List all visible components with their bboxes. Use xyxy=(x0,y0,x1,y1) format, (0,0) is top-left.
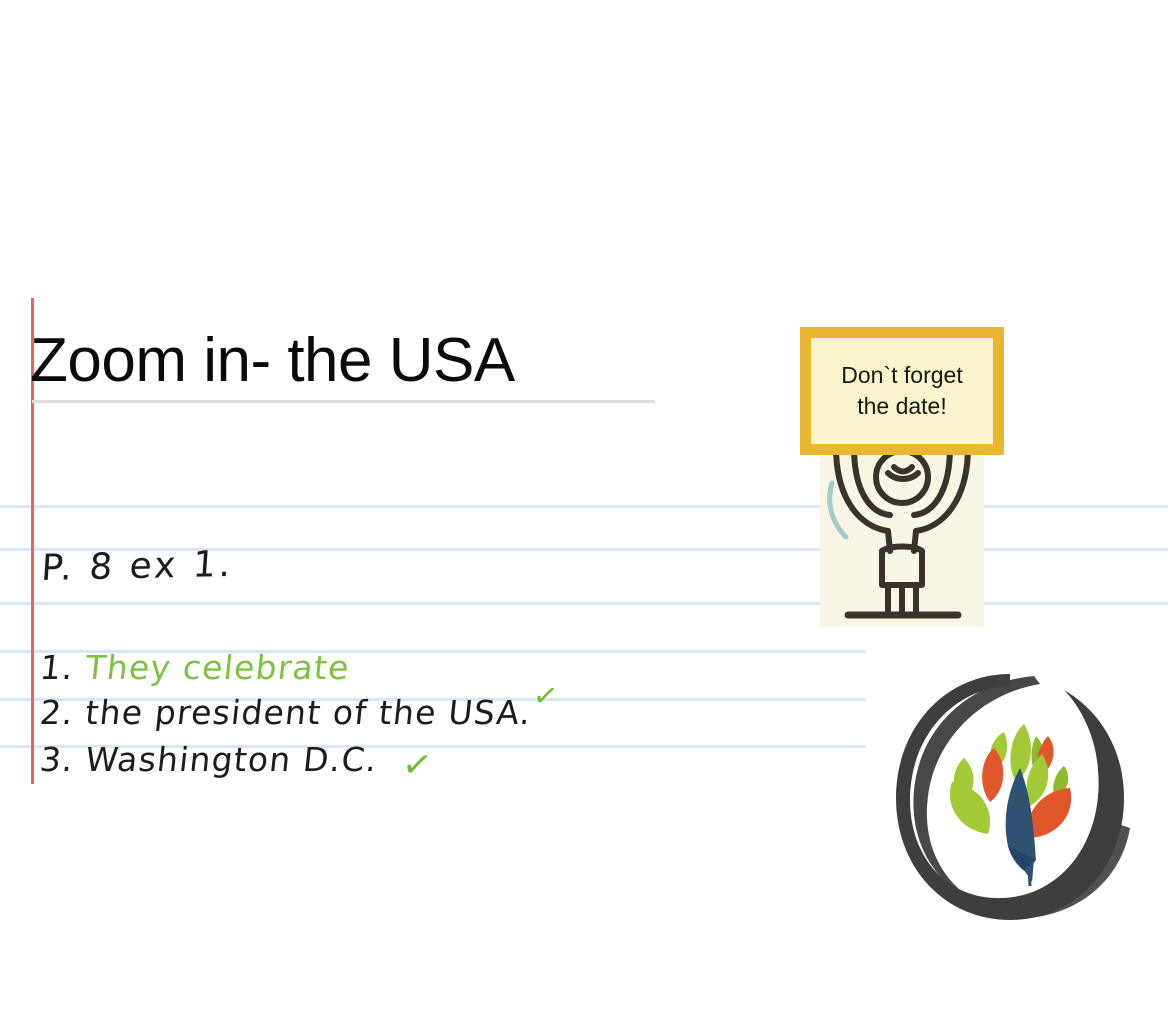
page-title: Zoom in- the USA xyxy=(30,325,515,397)
answer-text-3: Washington D.C. xyxy=(84,740,380,779)
person-figure-icon xyxy=(820,455,984,627)
answer-text-2: the president of the USA. xyxy=(84,693,534,732)
answer-number-3: 3. xyxy=(38,740,76,779)
title-underline xyxy=(32,400,655,403)
brand-logo[interactable] xyxy=(884,664,1136,932)
ruled-line xyxy=(0,505,1168,508)
person-holding-sign-illustration xyxy=(820,455,984,627)
answer-text-1: They celebrate xyxy=(84,648,352,687)
check-mark-icon-2: ✓ xyxy=(531,680,560,713)
tree-and-pen-logo-icon xyxy=(884,664,1136,932)
reminder-line-1: Don`t forget xyxy=(841,360,962,391)
exercise-reference: P. 8 ex 1. xyxy=(40,544,235,589)
reminder-note-card[interactable]: Don`t forget the date! xyxy=(800,327,1004,455)
answer-row-3: 3. Washington D.C. xyxy=(38,740,380,779)
reminder-note-text: Don`t forget the date! xyxy=(841,360,962,422)
ruled-line xyxy=(0,602,1168,605)
notebook-page: Zoom in- the USA P. 8 ex 1. 1. They cele… xyxy=(0,0,1168,1016)
answer-row-2: 2. the president of the USA. xyxy=(38,693,534,732)
reminder-line-2: the date! xyxy=(841,391,962,422)
answer-row-1: 1. They celebrate xyxy=(38,648,352,687)
answer-number-1: 1. xyxy=(38,648,76,687)
answer-number-2: 2. xyxy=(38,693,76,732)
check-mark-icon-3: ✓ xyxy=(400,746,435,786)
